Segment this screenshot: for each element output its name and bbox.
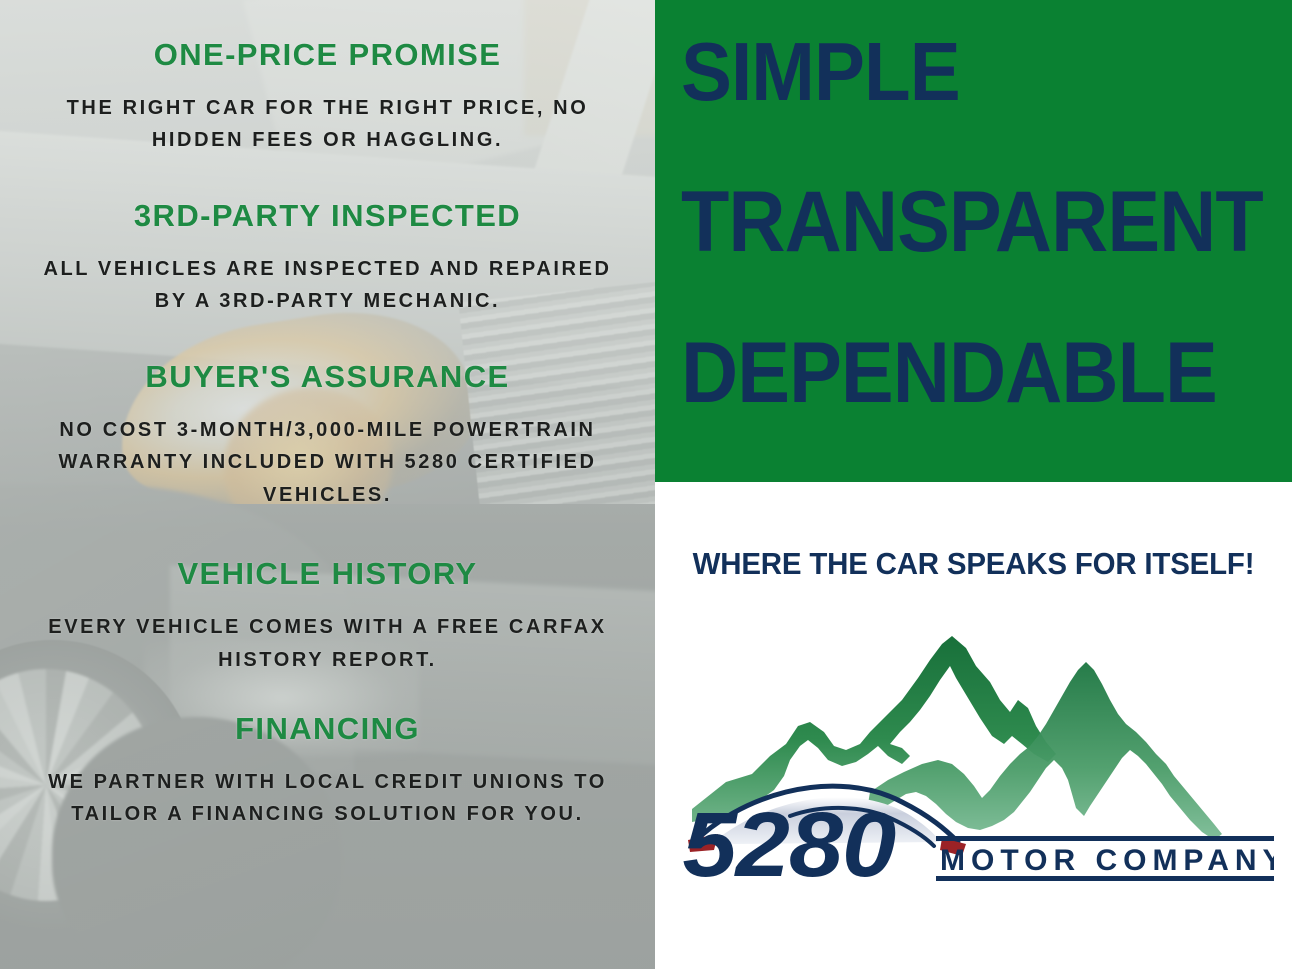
feature-body: THE RIGHT CAR FOR THE RIGHT PRICE, NO HI… bbox=[16, 92, 639, 157]
slogan-line-transparent: TRANSPARENT bbox=[681, 179, 1243, 267]
feature-block-buyers-assurance: BUYER'S ASSURANCE NO COST 3-MONTH/3,000-… bbox=[16, 360, 639, 511]
logo-subtitle: MOTOR COMPANY bbox=[940, 844, 1274, 877]
feature-block-financing: FINANCING WE PARTNER WITH LOCAL CREDIT U… bbox=[16, 712, 639, 831]
feature-block-one-price-promise: ONE-PRICE PROMISE THE RIGHT CAR FOR THE … bbox=[16, 38, 639, 157]
feature-body: NO COST 3-MONTH/3,000-MILE POWERTRAIN WA… bbox=[16, 414, 639, 511]
feature-body: EVERY VEHICLE COMES WITH A FREE CARFAX H… bbox=[16, 611, 639, 676]
slogan-line-simple: SIMPLE bbox=[681, 30, 1243, 115]
feature-heading: FINANCING bbox=[16, 712, 639, 746]
feature-heading: ONE-PRICE PROMISE bbox=[16, 38, 639, 72]
left-feature-column: ONE-PRICE PROMISE THE RIGHT CAR FOR THE … bbox=[0, 0, 655, 969]
logo-subtitle-group: MOTOR COMPANY bbox=[936, 836, 1274, 881]
right-brand-column: SIMPLE TRANSPARENT DEPENDABLE WHERE THE … bbox=[655, 0, 1292, 969]
feature-block-3rd-party-inspected: 3RD-PARTY INSPECTED ALL VEHICLES ARE INS… bbox=[16, 199, 639, 318]
slogan-panel: SIMPLE TRANSPARENT DEPENDABLE bbox=[655, 0, 1292, 482]
marketing-poster: ONE-PRICE PROMISE THE RIGHT CAR FOR THE … bbox=[0, 0, 1292, 969]
feature-heading: 3RD-PARTY INSPECTED bbox=[16, 199, 639, 233]
feature-body: ALL VEHICLES ARE INSPECTED AND REPAIRED … bbox=[16, 253, 639, 318]
feature-list: ONE-PRICE PROMISE THE RIGHT CAR FOR THE … bbox=[0, 0, 655, 969]
slogan-line-dependable: DEPENDABLE bbox=[681, 330, 1243, 418]
logo-number: 5280 bbox=[682, 794, 895, 884]
feature-heading: BUYER'S ASSURANCE bbox=[16, 360, 639, 394]
company-logo: 5280 MOTOR COMPANY bbox=[674, 604, 1274, 884]
feature-heading: VEHICLE HISTORY bbox=[16, 557, 639, 591]
brand-tagline: WHERE THE CAR SPEAKS FOR ITSELF! bbox=[671, 546, 1276, 582]
feature-body: WE PARTNER WITH LOCAL CREDIT UNIONS TO T… bbox=[16, 766, 639, 831]
feature-block-vehicle-history: VEHICLE HISTORY EVERY VEHICLE COMES WITH… bbox=[16, 557, 639, 676]
